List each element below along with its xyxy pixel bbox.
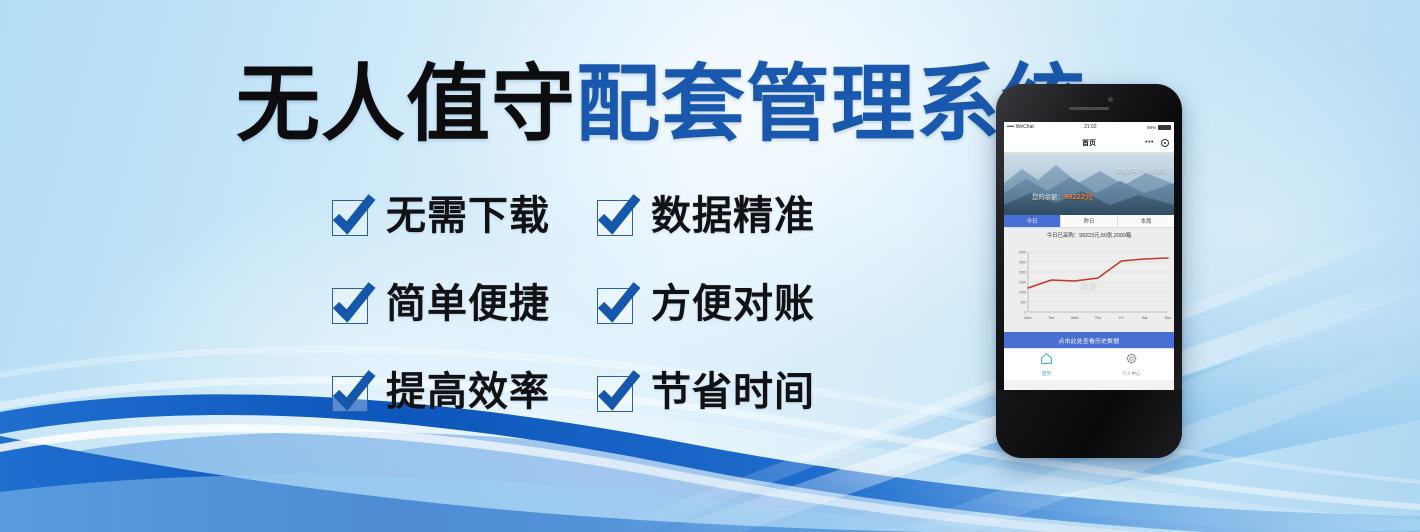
feature-label: 简单便捷 [386,282,550,326]
feature-item: 简单便捷 [330,260,595,348]
svg-text:Wed: Wed [1071,316,1078,320]
check-mark-icon [330,281,376,327]
tabbar-label: 首页 [1042,371,1051,377]
feature-list: 无需下载数据精准简单便捷方便对账提高效率节省时间 [330,172,860,436]
svg-text:2000: 2000 [1019,271,1026,275]
view-history-button[interactable]: 点击此处查看历史数据 [1004,332,1174,348]
circle-target-icon[interactable] [1161,139,1169,147]
checkbox-checked-icon [595,283,637,325]
signal-strength-icon: ••••• [1007,122,1014,133]
checkbox-checked-icon [595,371,637,413]
mountain-illustration [1004,153,1174,215]
svg-text:500: 500 [1021,301,1027,305]
balance-label: 您的余额： [1032,194,1064,201]
period-tab-bar: 今日昨日本周 [1004,215,1174,228]
home-icon [1040,352,1053,370]
feature-label: 无需下载 [386,194,550,238]
phone-mockup: ••••• WeChat 21:02 98% 首页 ••• [996,84,1182,458]
check-mark-icon [330,369,376,415]
checkbox-checked-icon [330,283,372,325]
checkbox-checked-icon [330,195,372,237]
tabbar-item-home[interactable]: 首页 [1004,349,1089,380]
svg-text:Fri: Fri [1119,316,1123,320]
phone-bottom-bezel [996,390,1182,458]
checkbox-checked-icon [595,195,637,237]
period-tab-0[interactable]: 今日 [1004,215,1061,227]
feature-label: 方便对账 [651,282,815,326]
svg-text:Tue: Tue [1048,316,1054,320]
period-tab-2[interactable]: 本周 [1118,215,1174,227]
feature-item: 节省时间 [595,348,860,436]
checkbox-checked-icon [330,371,372,413]
status-bar: ••••• WeChat 21:02 98% [1004,122,1174,133]
app-nav-bar: 首页 ••• [1004,133,1174,153]
battery-icon [1158,125,1171,130]
chart-canvas: 300025002000150010005000MonTueWedThuFriS… [1004,242,1174,332]
svg-text:Sat: Sat [1142,316,1147,320]
phone-screen: ••••• WeChat 21:02 98% 首页 ••• [1004,122,1174,390]
feature-item: 提高效率 [330,348,595,436]
nav-title: 首页 [1082,138,1096,148]
svg-text:2500: 2500 [1019,261,1026,265]
feature-label: 提高效率 [386,370,550,414]
battery-percent-label: 98% [1147,122,1156,133]
feature-label: 数据精准 [651,194,815,238]
wechat-capsule[interactable]: ••• [1145,139,1169,147]
check-mark-icon [595,193,641,239]
feature-label: 节省时间 [651,370,815,414]
svg-text:Sun: Sun [1165,316,1171,320]
balance-amount: 99222元 [1064,192,1093,201]
period-tab-1[interactable]: 昨日 [1061,215,1118,227]
clock-label: 21:02 [1034,122,1147,133]
check-mark-icon [595,281,641,327]
svg-text:3000: 3000 [1019,251,1026,255]
check-mark-icon [595,369,641,415]
tabbar-label: 个人中心 [1122,371,1140,377]
check-mark-icon [330,193,376,239]
svg-text:Mon: Mon [1025,316,1032,320]
svg-text:0: 0 [1024,311,1026,315]
feature-item: 数据精准 [595,172,860,260]
tabbar-item-gear[interactable]: 个人中心 [1089,349,1174,380]
hero-greeting-label: 尊敬的客户，欢迎您 [1116,167,1166,175]
title-segment-primary: 无人值守 [236,52,576,156]
daily-summary-strip: 今日已采购：99223元,50张,2000箱 [1004,228,1174,242]
hero-balance: 您的余额：99222元 [1032,191,1093,202]
svg-text:1500: 1500 [1019,281,1026,285]
promo-banner: 无人值守配套管理系统 无需下载数据精准简单便捷方便对账提高效率节省时间 ••••… [0,0,1420,532]
feature-item: 方便对账 [595,260,860,348]
purchase-trend-chart: 300025002000150010005000MonTueWedThuFriS… [1004,242,1174,332]
earpiece-speaker-icon [1069,107,1109,110]
bottom-tab-bar: 首页个人中心 [1004,348,1174,380]
page-title: 无人值守配套管理系统 [236,52,956,156]
more-dots-icon[interactable]: ••• [1145,139,1154,146]
svg-text:1000: 1000 [1019,291,1026,295]
front-camera-icon [1108,97,1113,102]
hero-banner: 尊敬的客户，欢迎您 您的余额：99222元 [1004,153,1174,215]
svg-text:Thu: Thu [1095,316,1101,320]
gear-icon [1125,352,1138,370]
feature-item: 无需下载 [330,172,595,260]
phone-top-bezel [996,84,1182,122]
carrier-label: WeChat [1016,122,1034,133]
